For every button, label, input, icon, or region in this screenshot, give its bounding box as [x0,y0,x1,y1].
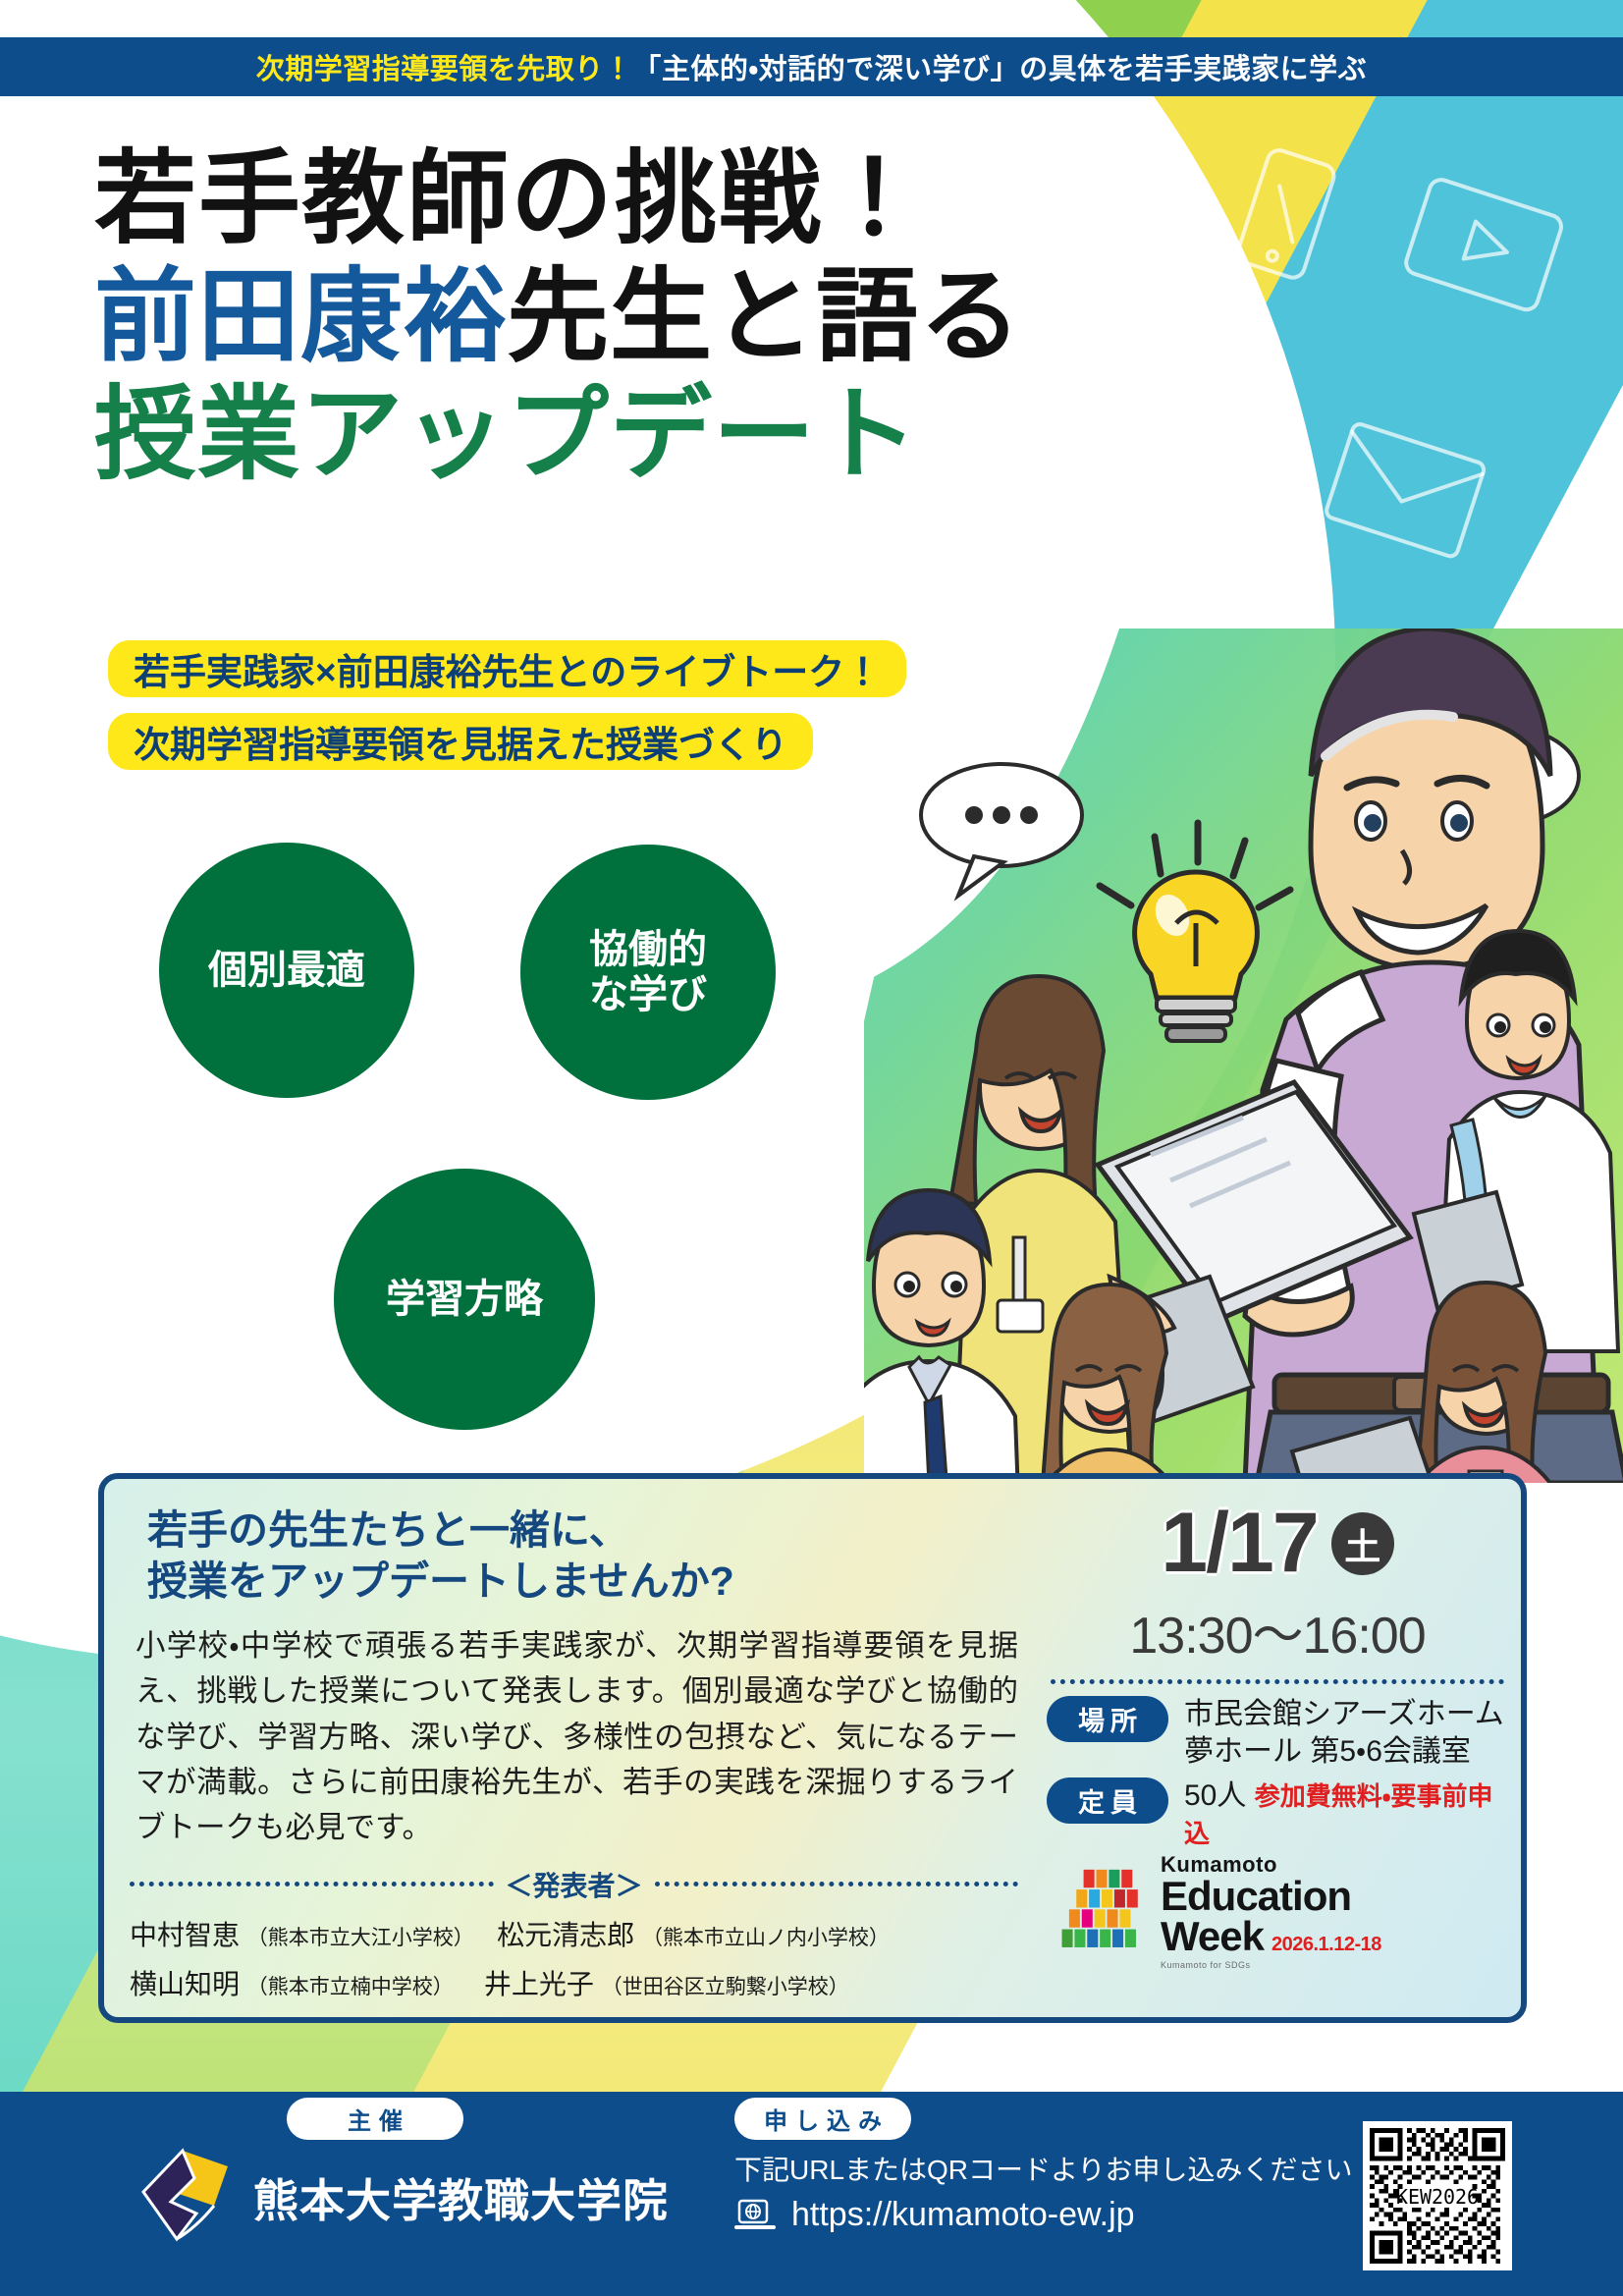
title-speaker-name: 前田康裕 [94,260,507,374]
keyword-circle-kobetsusaiteki: 個別最適 [159,843,414,1098]
kew-dates: 2026.1.12-18 [1271,1935,1381,1954]
speaker-row: 中村智恵 （熊本市立大江小学校） 松元清志郎 （熊本市立山ノ内小学校） [130,1914,1018,1953]
speaker-school: （熊本市立山ノ内小学校） [642,1927,890,1949]
keyword-circle-kyodoteki: 協働的な学び [520,845,776,1100]
laptop-globe-icon [734,2199,776,2232]
keyword-circle-gakushuhoryaku: 学習方略 [334,1169,595,1430]
venue-label: 場所 [1047,1696,1168,1742]
kew-logo-text: Kumamoto Education Week 2026.1.12-18 Kum… [1161,1854,1381,1972]
kew-week: Week [1161,1916,1264,1956]
apply-url-row[interactable]: https://kumamoto-ew.jp [734,2196,1352,2234]
subtitle-pill-1: 若手実践家×前田康裕先生とのライブトーク！ [108,640,906,697]
title-line-3: 授業アップデート [94,383,1253,487]
host-tag: 主催 [287,2098,463,2140]
kew-logo: Kumamoto Education Week 2026.1.12-18 Kum… [1056,1854,1381,1972]
top-banner: 次期学習指導要領を先取り！ 「主体的・対話的で深い学び」の具体を若手実践家に学ぶ [0,37,1623,96]
top-banner-rest: 「主体的・対話的で深い学び」の具体を若手実践家に学ぶ [632,46,1367,87]
capacity-value: 50人 [1184,1779,1246,1812]
title-line-2-rest: 先生と語る [507,260,1022,374]
panel-headline: 若手の先生たちと一緒に、 授業をアップデートしませんか? [147,1504,1018,1608]
event-time: 13:30〜16:00 [1047,1594,1508,1667]
divider-dots-left [130,1882,494,1886]
apply-tag: 申し込み [734,2098,911,2140]
panel-right-column: 1/17 土 13:30〜16:00 場所 市民会館シアーズホーム 夢ホール 第… [1047,1495,1508,1853]
capacity-value-wrap: 50人 参加費無料・要事前申込 [1184,1777,1508,1853]
capacity-label: 定員 [1047,1777,1168,1824]
apply-url[interactable]: https://kumamoto-ew.jp [791,2196,1135,2234]
kew-logo-mark [1056,1868,1147,1958]
apply-block: 下記URLまたはQRコードよりお申し込みください https://kumamot… [734,2149,1352,2234]
event-date-row: 1/17 土 [1047,1495,1508,1592]
event-day-of-week-badge: 土 [1331,1512,1394,1575]
panel-left-column: 若手の先生たちと一緒に、 授業をアップデートしませんか? 小学校・中学校で頑張る… [130,1504,1018,2002]
speaker-name: 井上光子 [484,1969,594,1999]
event-info-panel: 若手の先生たちと一緒に、 授業をアップデートしませんか? 小学校・中学校で頑張る… [98,1473,1527,2023]
capacity-row: 定員 50人 参加費無料・要事前申込 [1047,1777,1508,1853]
poster-root: 次期学習指導要領を先取り！ 「主体的・対話的で深い学び」の具体を若手実践家に学ぶ… [0,0,1623,2296]
venue-row: 場所 市民会館シアーズホーム 夢ホール 第5・6会議室 [1047,1696,1508,1772]
speakers-label: ＜発表者＞ [506,1865,643,1904]
title-line-1: 若手教師の挑戦！ [94,147,1253,251]
panel-headline-line-1: 若手の先生たちと一緒に、 [147,1504,1018,1556]
event-date: 1/17 [1161,1495,1317,1592]
host-name: 熊本大学教職大学院 [253,2165,669,2230]
title-line-2: 前田康裕先生と語る [94,265,1253,369]
speaker-school: （熊本市立楠中学校） [247,1976,454,1998]
kumamoto-university-logo-icon [137,2145,232,2251]
venue-line-1: 市民会館シアーズホーム [1184,1698,1504,1730]
top-banner-highlight: 次期学習指導要領を先取り！ [256,46,633,87]
host-block: 熊本大学教職大学院 [137,2145,669,2251]
divider-dots-right [655,1882,1019,1886]
venue-line-2: 夢ホール 第5・6会議室 [1184,1735,1471,1768]
speaker-name: 松元清志郎 [497,1920,634,1950]
keyword-circle-kyodoteki-label: 協働的な学び [589,927,707,1017]
panel-right-divider [1051,1679,1504,1684]
speakers-divider: ＜発表者＞ [130,1865,1018,1904]
kew-education: Education [1161,1873,1351,1919]
subtitle-pill-2: 次期学習指導要領を見据えた授業づくり [108,713,813,770]
speaker-row: 横山知明 （熊本市立楠中学校） 井上光子 （世田谷区立駒繋小学校） [130,1963,1018,2002]
qr-code-image: KEW2026 [1370,2128,1505,2264]
panel-headline-line-2: 授業をアップデートしませんか? [147,1556,1018,1607]
apply-instruction: 下記URLまたはQRコードよりお申し込みください [734,2149,1352,2188]
speaker-name: 横山知明 [130,1969,240,1999]
venue-value: 市民会館シアーズホーム 夢ホール 第5・6会議室 [1184,1696,1504,1772]
svg-text:KEW2026: KEW2026 [1396,2185,1479,2209]
kew-sdgs-tagline: Kumamoto for SDGs [1161,1960,1251,1970]
illustration-teachers-with-tablets [864,629,1623,1483]
panel-description: 小学校・中学校で頑張る若手実践家が、次期学習指導要領を見据え、挑戦した授業につい… [135,1623,1018,1851]
speaker-name: 中村智恵 [130,1920,240,1950]
page-title: 若手教師の挑戦！ 前田康裕先生と語る 授業アップデート [94,147,1253,487]
speaker-school: （熊本市立大江小学校） [247,1927,474,1949]
qr-code[interactable]: KEW2026 [1363,2121,1512,2270]
speaker-school: （世田谷区立駒繋小学校） [602,1976,849,1998]
